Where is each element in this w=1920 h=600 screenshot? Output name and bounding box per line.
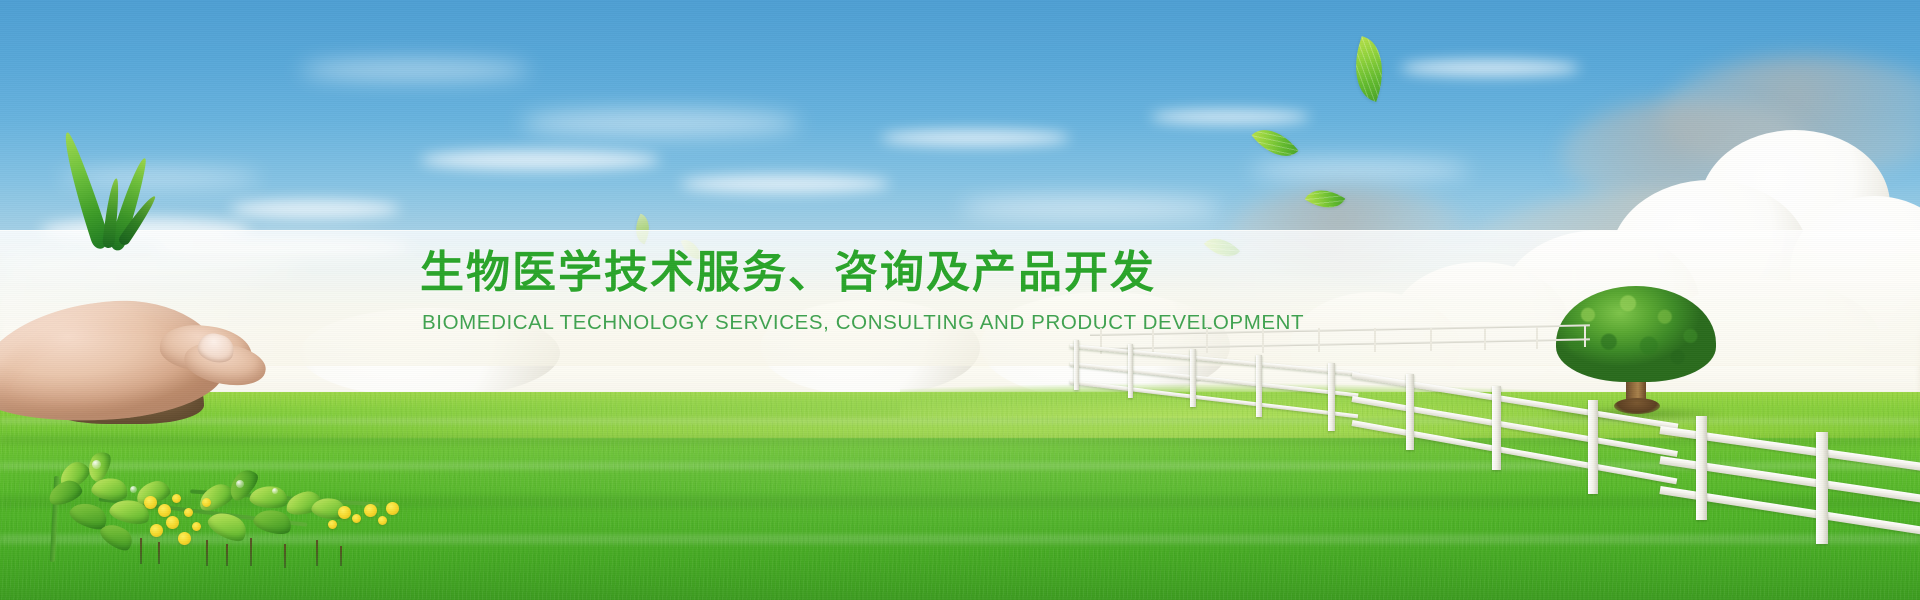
fence-post [1406, 374, 1414, 450]
plant-sprig [158, 542, 160, 564]
cirrus-cloud-icon [680, 175, 890, 193]
cirrus-cloud-icon [880, 130, 1070, 146]
fence-rail-far [1090, 338, 1590, 350]
plant-sprig [140, 538, 142, 564]
ranch-fence [1060, 320, 1920, 520]
fence-post [1074, 340, 1079, 390]
fence-post [1128, 344, 1133, 398]
cirrus-cloud-icon [520, 110, 800, 136]
cirrus-cloud-icon [420, 150, 660, 170]
yellow-flower [184, 508, 193, 517]
page-title: 生物医学技术服务、咨询及产品开发 [420, 248, 1240, 299]
fence-post [1256, 355, 1262, 417]
cirrus-cloud-icon [1400, 60, 1580, 76]
plant-sprig [226, 544, 228, 566]
yellow-flower [150, 524, 163, 537]
yellow-flower [202, 498, 211, 507]
fence-post [1328, 363, 1335, 431]
hand-icon [0, 282, 284, 422]
foreground-plants [40, 452, 420, 600]
yellow-flower [172, 494, 181, 503]
fence-post-far [1536, 327, 1538, 349]
fence-rail [1070, 380, 1358, 418]
fence-rail [1352, 372, 1679, 430]
plant-sprig [316, 540, 318, 566]
fence-rail [1351, 420, 1677, 484]
dew-drop [92, 460, 101, 469]
plant-sprig [340, 546, 342, 566]
cirrus-cloud-icon [1150, 110, 1310, 124]
plant-leaf [249, 483, 290, 510]
dew-drop [130, 486, 137, 493]
cirrus-cloud-icon [300, 60, 530, 80]
fence-post-far [1374, 328, 1376, 352]
fence-rail [1070, 344, 1359, 376]
fence-post [1492, 386, 1501, 470]
fence-post [1696, 416, 1707, 520]
yellow-flower [144, 496, 157, 509]
fence-post-far [1318, 328, 1320, 352]
fence-post-far [1152, 328, 1154, 354]
hero-banner: 生物医学技术服务、咨询及产品开发 BIOMEDICAL TECHNOLOGY S… [0, 0, 1920, 600]
fence-post [1588, 400, 1598, 494]
dew-drop [236, 480, 244, 488]
fence-post-far [1484, 328, 1486, 350]
cirrus-cloud-icon [960, 196, 1220, 220]
fence-post-far [1206, 328, 1208, 353]
fence-post-far [1262, 328, 1264, 353]
yellow-flower [158, 504, 171, 517]
yellow-flower [192, 522, 201, 531]
dew-drop [272, 488, 278, 494]
fence-post [1816, 432, 1828, 544]
fence-post [1190, 349, 1196, 407]
fence-rail-far [1090, 324, 1590, 336]
plant-sprig [206, 540, 208, 566]
yellow-flower [338, 506, 351, 519]
yellow-flower [364, 504, 377, 517]
plant-sprig [250, 538, 252, 566]
yellow-flower [178, 532, 191, 545]
fence-rail [1351, 396, 1677, 457]
yellow-flower [352, 514, 361, 523]
plant-sprig [284, 544, 286, 568]
yellow-flower [386, 502, 399, 515]
yellow-flower [328, 520, 337, 529]
hand-with-seedling [0, 176, 314, 426]
yellow-flower [166, 516, 179, 529]
cirrus-cloud-icon [1250, 160, 1470, 180]
yellow-flower [378, 516, 387, 525]
fence-post-far [1584, 326, 1586, 347]
fence-post-far [1430, 328, 1432, 351]
